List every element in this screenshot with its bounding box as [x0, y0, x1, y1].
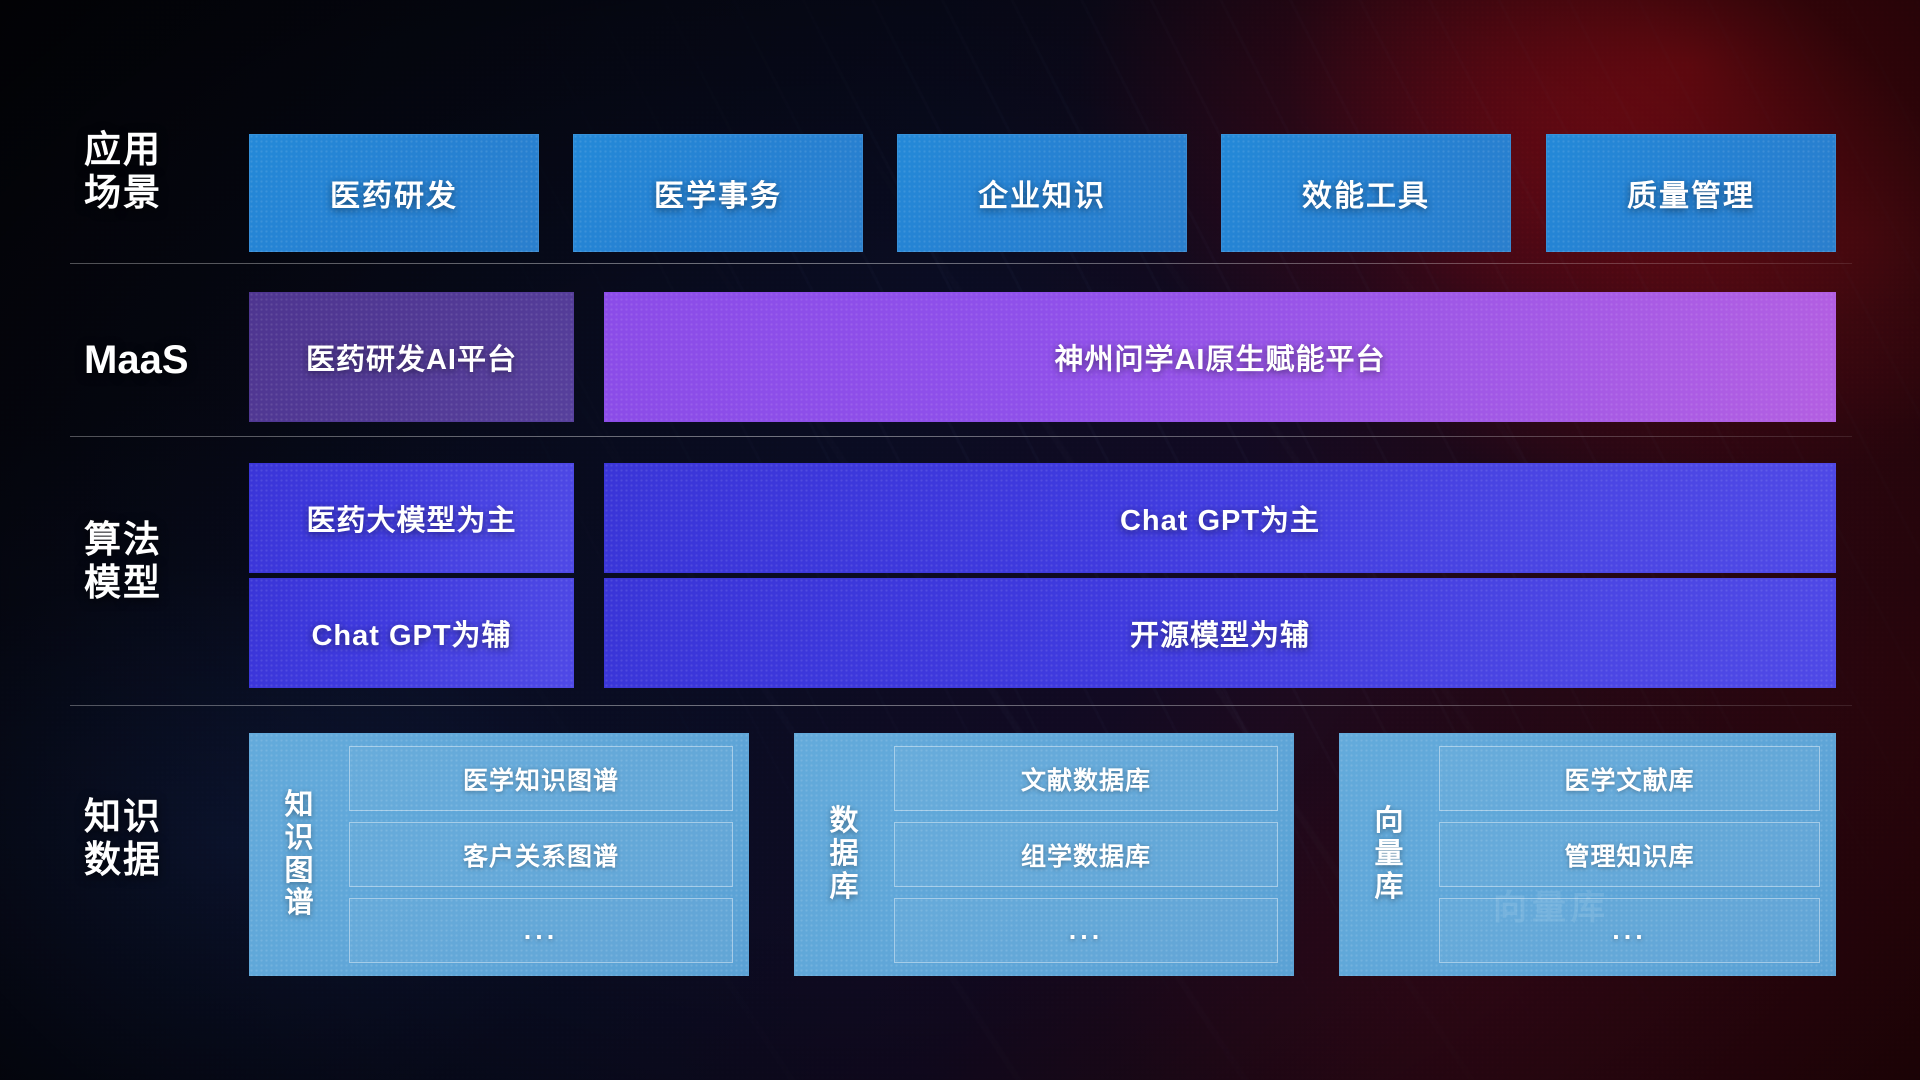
slide-canvas: 应用 场景 医药研发 医学事务 企业知识 效能工具 质量管理 MaaS 医药研发…	[0, 0, 1920, 1080]
row-label-maas: MaaS	[84, 337, 252, 384]
tile-app-scenario-2[interactable]: 医学事务	[573, 134, 863, 252]
knowledge-item-label: ...	[1069, 915, 1104, 946]
tile-algo-opensource-secondary[interactable]: 开源模型为辅	[604, 578, 1836, 688]
tile-label: 医药研发AI平台	[306, 336, 517, 378]
row-label-algorithm-models: 算法 模型	[84, 518, 252, 605]
title-char: 图	[284, 855, 313, 888]
knowledge-group-vector-database[interactable]: 向 量 库 医学文献库 管理知识库 ...	[1339, 733, 1836, 976]
knowledge-item-label: 管理知识库	[1564, 837, 1694, 873]
knowledge-group-items: 医学知识图谱 客户关系图谱 ...	[335, 746, 733, 963]
tile-label: Chat GPT为主	[1120, 497, 1320, 539]
knowledge-group-database[interactable]: 数 据 库 文献数据库 组学数据库 ...	[794, 733, 1294, 976]
divider-3	[70, 705, 1852, 706]
tile-label: 医学事务	[654, 171, 782, 215]
title-char: 库	[1374, 871, 1403, 904]
title-char: 知	[284, 789, 313, 822]
tile-label: 神州问学AI原生赋能平台	[1054, 336, 1385, 378]
tile-app-scenario-3[interactable]: 企业知识	[897, 134, 1187, 252]
knowledge-item-label: 医学知识图谱	[463, 761, 619, 797]
title-char: 库	[829, 871, 858, 904]
knowledge-item-label: 客户关系图谱	[463, 837, 619, 873]
knowledge-group-items: 医学文献库 管理知识库 ...	[1425, 746, 1820, 963]
knowledge-item-label: 文献数据库	[1021, 761, 1151, 797]
tile-label: 效能工具	[1302, 171, 1430, 215]
knowledge-group-title: 数 据 库	[808, 746, 880, 963]
knowledge-item-more[interactable]: ...	[349, 898, 733, 963]
divider-2	[70, 436, 1852, 437]
architecture-diagram: 应用 场景 医药研发 医学事务 企业知识 效能工具 质量管理 MaaS 医药研发…	[0, 0, 1920, 1080]
knowledge-item-more[interactable]: ...	[1439, 898, 1820, 963]
title-char: 数	[829, 805, 858, 838]
tile-label: Chat GPT为辅	[311, 612, 511, 654]
row-label-knowledge-data: 知识 数据	[84, 795, 252, 882]
tile-label: 质量管理	[1627, 171, 1755, 215]
knowledge-item[interactable]: 医学文献库	[1439, 746, 1820, 811]
tile-app-scenario-1[interactable]: 医药研发	[249, 134, 539, 252]
knowledge-item-more[interactable]: ...	[894, 898, 1278, 963]
row-label-application-scenarios: 应用 场景	[84, 128, 252, 215]
title-char: 量	[1374, 838, 1403, 871]
tile-algo-pharma-llm-primary[interactable]: 医药大模型为主	[249, 463, 574, 573]
tile-app-scenario-4[interactable]: 效能工具	[1221, 134, 1511, 252]
tile-maas-shenzhou-wenxue-platform[interactable]: 神州问学AI原生赋能平台	[604, 292, 1836, 422]
knowledge-item[interactable]: 组学数据库	[894, 822, 1278, 887]
title-char: 向	[1374, 805, 1403, 838]
knowledge-group-title: 向 量 库	[1353, 746, 1425, 963]
tile-algo-chatgpt-primary[interactable]: Chat GPT为主	[604, 463, 1836, 573]
tile-label: 医药大模型为主	[306, 497, 516, 539]
tile-maas-pharma-ai-platform[interactable]: 医药研发AI平台	[249, 292, 574, 422]
title-char: 谱	[284, 887, 313, 920]
tile-label: 医药研发	[330, 171, 458, 215]
knowledge-group-items: 文献数据库 组学数据库 ...	[880, 746, 1278, 963]
knowledge-group-title: 知 识 图 谱	[263, 746, 335, 963]
knowledge-item-label: 医学文献库	[1564, 761, 1694, 797]
knowledge-item[interactable]: 文献数据库	[894, 746, 1278, 811]
knowledge-item[interactable]: 客户关系图谱	[349, 822, 733, 887]
divider-1	[70, 263, 1852, 264]
tile-app-scenario-5[interactable]: 质量管理	[1546, 134, 1836, 252]
tile-label: 开源模型为辅	[1130, 612, 1310, 654]
knowledge-item-label: ...	[524, 915, 559, 946]
knowledge-item-label: 组学数据库	[1021, 837, 1151, 873]
tile-label: 企业知识	[978, 171, 1106, 215]
title-char: 识	[284, 822, 313, 855]
title-char: 据	[829, 838, 858, 871]
knowledge-group-knowledge-graph[interactable]: 知 识 图 谱 医学知识图谱 客户关系图谱 ...	[249, 733, 749, 976]
knowledge-item[interactable]: 管理知识库	[1439, 822, 1820, 887]
tile-algo-chatgpt-secondary[interactable]: Chat GPT为辅	[249, 578, 574, 688]
knowledge-item[interactable]: 医学知识图谱	[349, 746, 733, 811]
knowledge-item-label: ...	[1612, 915, 1647, 946]
